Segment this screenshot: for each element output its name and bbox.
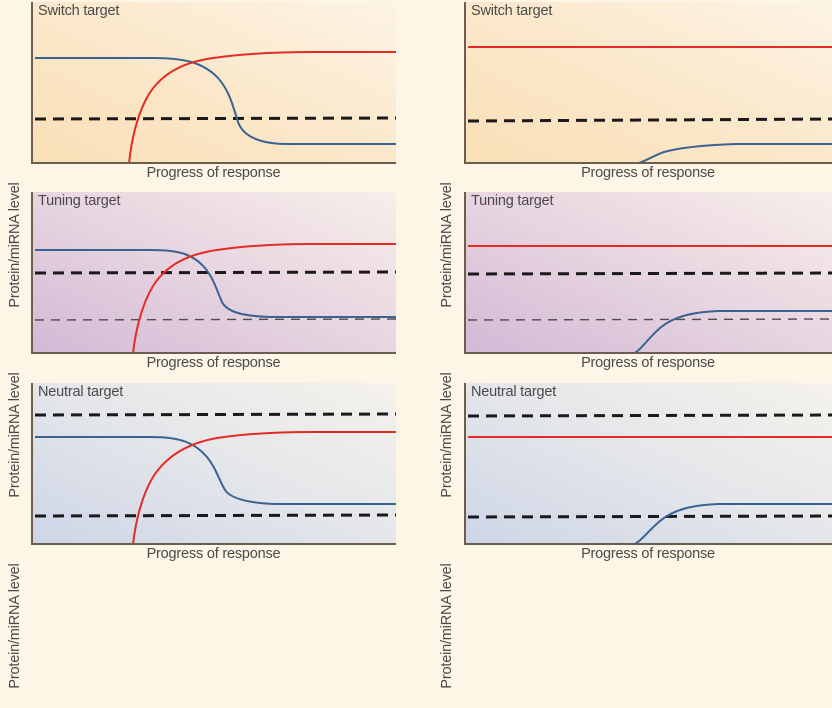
threshold-line-lower <box>468 516 832 517</box>
x-axis-label: Progress of response <box>31 165 396 181</box>
panel-neutral-left: Protein/miRNA level <box>4 381 396 571</box>
plot-frame <box>31 192 396 354</box>
panel-title: Neutral target <box>38 384 123 400</box>
panel-switch-left: Protein/miRNA level <box>4 0 396 185</box>
plot-area-neutral-right: Neutral target <box>464 383 832 545</box>
threshold-line-upper <box>35 414 396 415</box>
y-axis-label: Protein/miRNA level <box>439 544 457 708</box>
panel-title: Switch target <box>471 3 552 19</box>
chart-svg-tuning-right <box>466 192 832 354</box>
plot-frame <box>31 383 396 545</box>
figure-root: Protein/miRNA level <box>0 0 832 571</box>
panel-background <box>466 383 832 545</box>
panel-tuning-right: Protein/miRNA level <box>436 190 832 375</box>
plot-area-switch-left: Switch target <box>31 2 396 164</box>
plot-frame <box>464 192 832 354</box>
chart-svg-switch-right <box>466 2 832 164</box>
panel-title: Neutral target <box>471 384 556 400</box>
panel-title: Switch target <box>38 3 119 19</box>
panel-tuning-left: Protein/miRNA level <box>4 190 396 375</box>
chart-svg-neutral-right <box>466 383 832 545</box>
panel-neutral-right: Protein/miRNA level <box>436 381 832 571</box>
plot-area-switch-right: Switch target <box>464 2 832 164</box>
panel-title: Tuning target <box>471 193 553 209</box>
panel-title: Tuning target <box>38 193 120 209</box>
plot-area-neutral-left: Neutral target <box>31 383 396 545</box>
plot-area-tuning-left: Tuning target <box>31 192 396 354</box>
chart-svg-switch-left <box>33 2 396 164</box>
plot-area-tuning-right: Tuning target <box>464 192 832 354</box>
threshold-line-upper <box>468 273 832 274</box>
panel-background <box>33 383 396 545</box>
plot-frame <box>464 383 832 545</box>
x-axis-label: Progress of response <box>464 546 832 562</box>
panel-background <box>466 2 832 164</box>
threshold-line-upper <box>468 415 832 416</box>
threshold-line-switch <box>468 119 832 121</box>
x-axis-label: Progress of response <box>31 546 396 562</box>
plot-frame <box>31 2 396 164</box>
x-axis-label: Progress of response <box>464 165 832 181</box>
threshold-line-upper <box>35 272 396 273</box>
chart-svg-neutral-left <box>33 383 396 545</box>
y-axis-label: Protein/miRNA level <box>7 544 25 708</box>
threshold-line-switch <box>35 118 396 119</box>
x-axis-label: Progress of response <box>464 355 832 371</box>
panel-switch-right: Protein/miRNA level <box>436 0 832 185</box>
threshold-line-lower <box>35 515 396 516</box>
plot-frame <box>464 2 832 164</box>
chart-svg-tuning-left <box>33 192 396 354</box>
x-axis-label: Progress of response <box>31 355 396 371</box>
panel-background <box>33 2 396 164</box>
